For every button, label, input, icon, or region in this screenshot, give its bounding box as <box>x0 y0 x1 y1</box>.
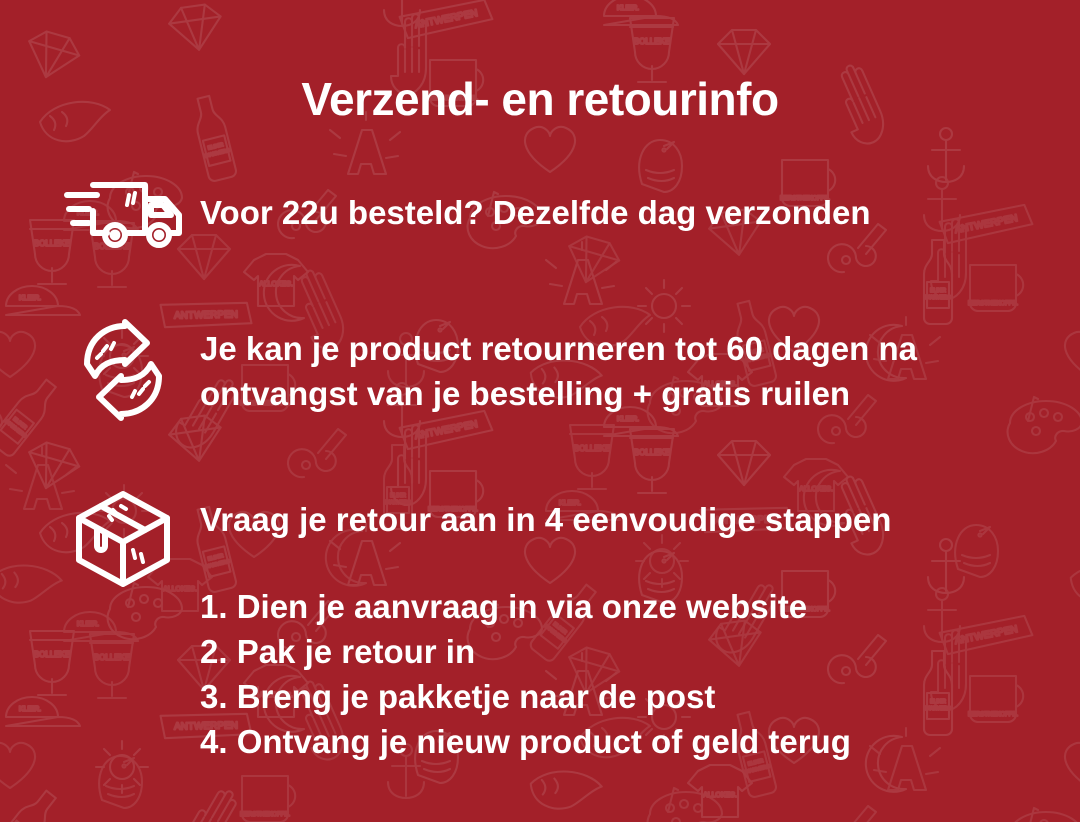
returns-text-line2: ontvangst van je bestelling + gratis rui… <box>200 371 1008 416</box>
steps-list: 1. Dien je aanvraag in via onze website … <box>200 584 891 764</box>
page-title: Verzend- en retourinfo <box>0 72 1080 126</box>
shipping-text: Voor 22u besteld? Dezelfde dag verzonden <box>188 176 871 233</box>
returns-text-line1: Je kan je product retourneren tot 60 dag… <box>200 326 1008 371</box>
steps-heading: Vraag je retour aan in 4 eenvoudige stap… <box>200 500 891 540</box>
section-shipping: Voor 22u besteld? Dezelfde dag verzonden <box>58 176 871 252</box>
package-box-icon <box>58 486 188 590</box>
section-returns: Je kan je product retourneren tot 60 dag… <box>58 318 1008 422</box>
shipping-returns-info-panel: Verzend- en retourinfo Voor 22u besteld?… <box>0 0 1080 822</box>
return-exchange-arrows-icon <box>58 318 188 422</box>
returns-text: Je kan je product retourneren tot 60 dag… <box>188 318 1008 416</box>
list-item: 4. Ontvang je nieuw product of geld teru… <box>200 719 891 764</box>
section-return-steps: Vraag je retour aan in 4 eenvoudige stap… <box>58 486 891 764</box>
list-item: 2. Pak je retour in <box>200 629 891 674</box>
list-item: 3. Breng je pakketje naar de post <box>200 674 891 719</box>
steps-text-column: Vraag je retour aan in 4 eenvoudige stap… <box>188 486 891 764</box>
list-item: 1. Dien je aanvraag in via onze website <box>200 584 891 629</box>
delivery-truck-icon <box>58 176 188 252</box>
